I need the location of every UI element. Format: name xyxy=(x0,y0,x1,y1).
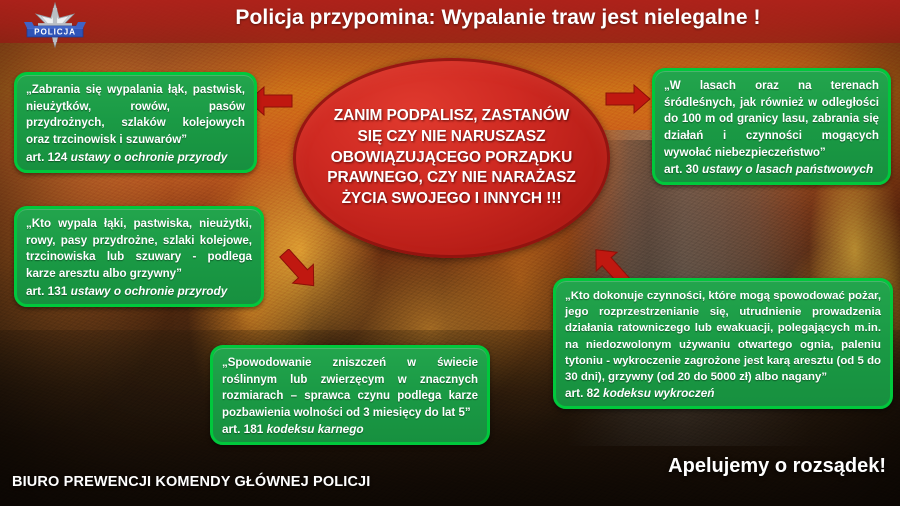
legal-box-criminal-code: „Spowodowanie zniszczeń w świecie roślin… xyxy=(210,345,490,445)
article-source: ustawy o ochronie przyrody xyxy=(71,150,228,164)
article-number: art. 181 xyxy=(222,422,263,436)
poster-canvas: POLICJA Policja przypomina: Wypalanie tr… xyxy=(0,0,900,506)
page-title: Policja przypomina: Wypalanie traw jest … xyxy=(118,6,878,30)
article-source: ustawy o lasach państwowych xyxy=(702,162,873,176)
legal-box-body: „W lasach oraz na terenach śródleśnych, … xyxy=(664,78,879,161)
article-source: kodeksu karnego xyxy=(267,422,364,436)
article-source: ustawy o ochronie przyrody xyxy=(71,284,228,298)
legal-box-article: art. 181 kodeksu karnego xyxy=(222,422,478,436)
central-warning-text: ZANIM PODPALISZ, ZASTANÓW SIĘ CZY NIE NA… xyxy=(321,106,583,209)
article-number: art. 131 xyxy=(26,284,67,298)
legal-box-nature-ban: „Zabrania się wypalania łąk, pastwisk, n… xyxy=(14,72,257,173)
footer-appeal: Apelujemy o rozsądek! xyxy=(668,455,886,478)
footer-organisation: BIURO PREWENCJI KOMENDY GŁÓWNEJ POLICJI xyxy=(12,474,370,490)
legal-box-body: „Spowodowanie zniszczeń w świecie roślin… xyxy=(222,355,478,421)
article-number: art. 124 xyxy=(26,150,67,164)
legal-box-article: art. 124 ustawy o ochronie przyrody xyxy=(26,150,245,164)
police-star-badge-icon: POLICJA xyxy=(19,2,91,48)
article-source: kodeksu wykroczeń xyxy=(603,386,714,400)
arrow-down-left-icon xyxy=(272,249,320,295)
legal-box-body: „Zabrania się wypalania łąk, pastwisk, n… xyxy=(26,82,245,149)
arrow-right-icon xyxy=(604,82,652,116)
article-number: art. 30 xyxy=(664,162,699,176)
legal-box-nature-penalty: „Kto wypala łąki, pastwiska, nieużytki, … xyxy=(14,206,264,307)
legal-box-misdemeanour: „Kto dokonuje czynności, które mogą spow… xyxy=(553,278,893,409)
legal-box-body: „Kto dokonuje czynności, które mogą spow… xyxy=(565,288,881,385)
central-warning-ellipse: ZANIM PODPALISZ, ZASTANÓW SIĘ CZY NIE NA… xyxy=(293,58,610,258)
article-number: art. 82 xyxy=(565,386,600,400)
badge-wordmark: POLICJA xyxy=(34,28,76,37)
legal-box-body: „Kto wypala łąki, pastwiska, nieużytki, … xyxy=(26,216,252,283)
legal-box-article: art. 131 ustawy o ochronie przyrody xyxy=(26,284,252,298)
legal-box-article: art. 30 ustawy o lasach państwowych xyxy=(664,162,879,176)
legal-box-forest-act: „W lasach oraz na terenach śródleśnych, … xyxy=(652,68,891,185)
legal-box-article: art. 82 kodeksu wykroczeń xyxy=(565,386,881,400)
